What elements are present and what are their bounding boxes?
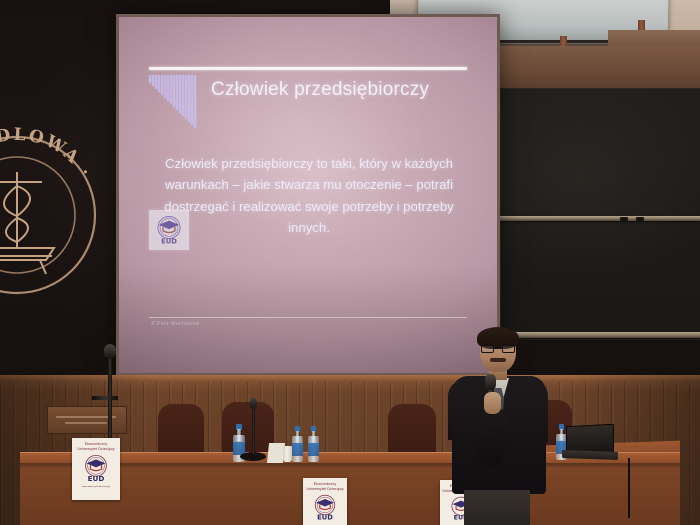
placard: Ekonomiczny Uniwersytet Dziecięcy EUD bbox=[303, 478, 347, 525]
water-bottle bbox=[308, 426, 319, 462]
floor-microphone-head bbox=[104, 344, 116, 359]
slide-top-rule bbox=[149, 67, 467, 70]
slide-footer-rule bbox=[149, 317, 467, 318]
lecture-hall-photo: · HANDLOWA · · WIE · bbox=[0, 0, 700, 525]
chalk-rail bbox=[500, 216, 700, 221]
projection-screen: Człowiek przedsiębiorczy Człowiek przeds… bbox=[119, 17, 497, 373]
wall-beam bbox=[480, 46, 700, 92]
blackboard bbox=[500, 88, 700, 340]
speaker-moustache bbox=[490, 358, 506, 362]
placard-line2: Uniwersytet Dziecięcy bbox=[77, 447, 114, 452]
table-microphone-head bbox=[250, 398, 257, 409]
bottle-label bbox=[292, 443, 303, 455]
ship-icon bbox=[0, 172, 54, 274]
slide-bar-motif bbox=[149, 75, 213, 129]
water-bottle bbox=[292, 426, 303, 462]
placard-url: www.uniwersytet-dzieciecy.pl bbox=[82, 486, 110, 488]
bottle-label bbox=[308, 443, 319, 455]
glasses-icon bbox=[481, 345, 515, 353]
laptop-cable bbox=[628, 458, 630, 518]
rail-clip bbox=[620, 217, 628, 221]
placard-logo-text: EUD bbox=[317, 513, 333, 521]
slide-footer: © Piotr Wachowiak bbox=[151, 321, 200, 327]
speaker-trousers bbox=[464, 490, 530, 525]
cup bbox=[283, 446, 292, 462]
mic-stand-arm bbox=[92, 396, 118, 400]
plaque-line bbox=[56, 416, 116, 418]
eud-logo-placard: EUD bbox=[310, 493, 340, 523]
plaque-line bbox=[65, 422, 107, 424]
emblem-bottom-text: · WIE · bbox=[0, 231, 5, 286]
slide-title: Człowiek przedsiębiorczy bbox=[211, 79, 487, 101]
eud-logo-placard: EUD bbox=[80, 453, 112, 485]
wall-emblem-sgh: · HANDLOWA · · WIE · bbox=[0, 120, 112, 310]
table-microphone-stem bbox=[252, 406, 255, 454]
rail-clip bbox=[636, 217, 644, 221]
placard-line2: Uniwersytet Dziecięcy bbox=[306, 487, 343, 492]
placard: Ekonomiczny Uniwersytet Dziecięcy EUD ww… bbox=[72, 438, 120, 500]
handheld-microphone-head bbox=[485, 374, 496, 390]
eud-logo-slide: EUD bbox=[149, 210, 189, 250]
speaker-hand bbox=[484, 392, 501, 414]
svg-text:· WIE ·: · WIE · bbox=[0, 231, 5, 286]
eud-logo-text: EUD bbox=[161, 238, 177, 246]
floor-microphone-stand bbox=[108, 355, 112, 450]
slide-body-text: Człowiek przedsiębiorczy to taki, który … bbox=[161, 153, 457, 239]
placard-logo-text: EUD bbox=[88, 474, 105, 483]
speaker bbox=[440, 330, 558, 525]
wall-plaque bbox=[47, 406, 127, 434]
